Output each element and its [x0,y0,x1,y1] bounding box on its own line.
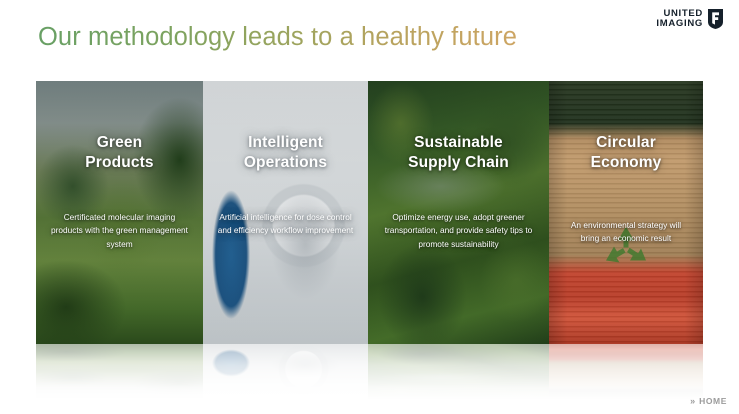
panel-1-title: Green Products [77,133,161,173]
reflection-cell-3 [368,344,549,400]
methodology-panel-strip: Green Products Certificated molecular im… [36,81,703,344]
panel-3-content: Sustainable Supply Chain Optimize energy… [368,81,549,344]
double-chevron-right-icon: » [690,396,694,406]
panel-intelligent-operations[interactable]: Intelligent Operations Artificial intell… [203,81,368,344]
panel-2-title-line-1: Intelligent [244,133,327,153]
panel-1-description: Certificated molecular imaging products … [36,211,203,251]
reflection-4-image [549,344,703,400]
panel-4-description: An environmental strategy will bring an … [549,219,703,246]
page-title: Our methodology leads to a healthy futur… [38,23,517,52]
panel-reflection [36,344,703,400]
united-imaging-logo: UNITED IMAGING [656,9,723,29]
panel-1-title-line-1: Green [85,133,153,153]
panel-4-content: Circular Economy An environmental strate… [549,81,703,344]
panel-green-products[interactable]: Green Products Certificated molecular im… [36,81,203,344]
reflection-1-image [36,344,203,400]
logo-line-2: IMAGING [656,19,703,29]
panel-4-title: Circular Economy [583,133,670,173]
logo-wordmark: UNITED IMAGING [656,9,703,28]
panel-1-content: Green Products Certificated molecular im… [36,81,203,344]
reflection-cell-1 [36,344,203,400]
panel-2-title: Intelligent Operations [236,133,335,173]
panel-3-title-line-1: Sustainable [408,133,509,153]
panel-2-title-line-2: Operations [244,153,327,173]
panel-2-content: Intelligent Operations Artificial intell… [203,81,368,344]
reflection-3-image [368,344,549,400]
slide-canvas: UNITED IMAGING Our methodology leads to … [0,0,739,414]
panel-4-title-line-1: Circular [591,133,662,153]
panel-sustainable-supply-chain[interactable]: Sustainable Supply Chain Optimize energy… [368,81,549,344]
home-link-label: HOME [699,396,727,406]
panel-3-description: Optimize energy use, adopt greener trans… [368,211,549,251]
panel-3-title: Sustainable Supply Chain [400,133,517,173]
reflection-cell-4 [549,344,703,400]
panel-4-title-line-2: Economy [591,153,662,173]
shield-logo-icon [708,9,723,29]
reflection-fade-overlay [36,344,703,400]
panel-2-description: Artificial intelligence for dose control… [203,211,368,238]
reflection-2-image [203,344,368,400]
panel-1-title-line-2: Products [85,153,153,173]
reflection-cell-2 [203,344,368,400]
panel-3-title-line-2: Supply Chain [408,153,509,173]
home-link[interactable]: » HOME [690,396,727,406]
panel-circular-economy[interactable]: Circular Economy An environmental strate… [549,81,703,344]
